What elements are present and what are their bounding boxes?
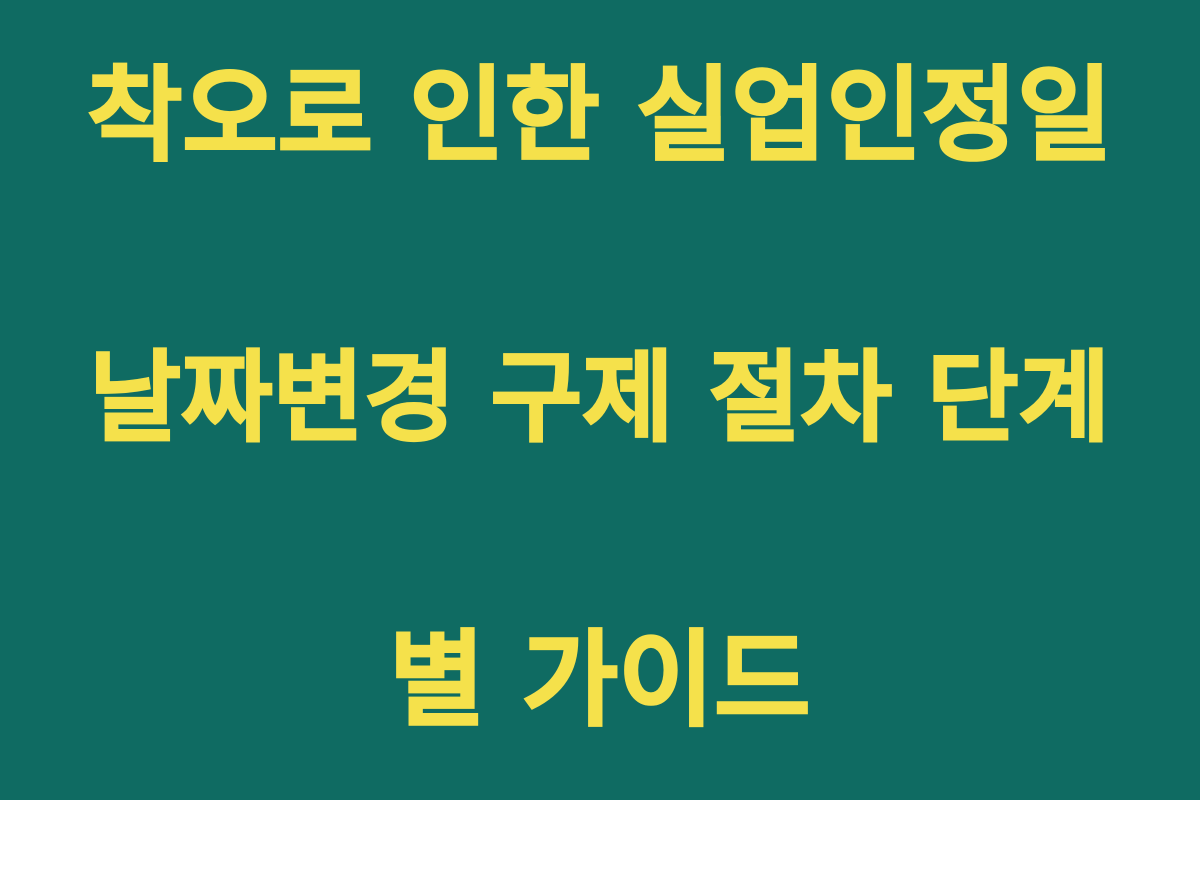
- headline-line-2: 날짜변경 구제 절차 단계: [85, 328, 1115, 469]
- banner-card: 착오로 인한 실업인정일 날짜변경 구제 절차 단계 별 가이드: [0, 0, 1200, 800]
- headline-line-1: 착오로 인한 실업인정일: [85, 46, 1115, 187]
- page-title: 착오로 인한 실업인정일 날짜변경 구제 절차 단계 별 가이드: [85, 0, 1115, 892]
- headline-line-3: 별 가이드: [85, 610, 1115, 751]
